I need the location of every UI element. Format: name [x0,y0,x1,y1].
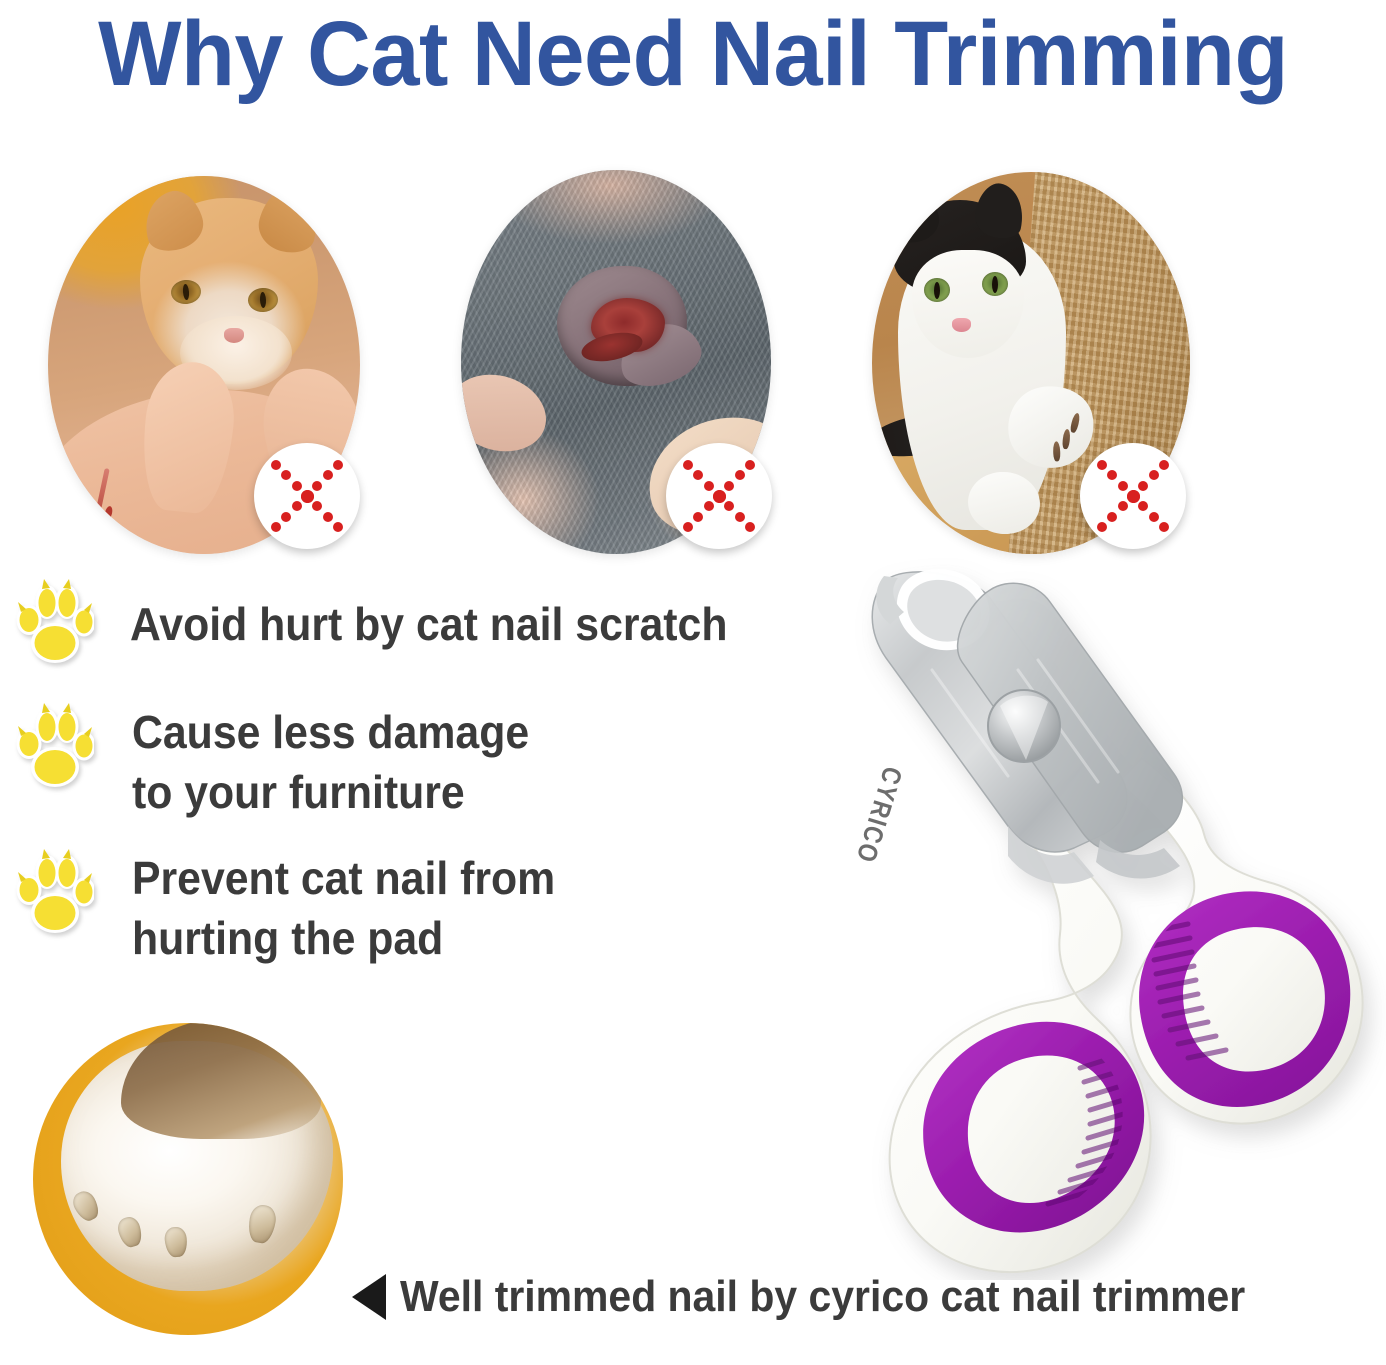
left-triangle-icon [352,1274,386,1320]
x-mark-icon [666,443,772,549]
benefit-item-2: Prevent cat nail from hurting the pad [16,846,587,968]
clipper-body [872,569,1362,1272]
cat-nose [224,328,244,343]
cat-nail-trimmer-product [812,520,1386,1280]
x-mark-icon [1080,443,1186,549]
benefit-label: Prevent cat nail from hurting the pad [132,846,555,968]
cat-nose [952,318,971,332]
x-mark-icon [254,443,360,549]
cat-eye-left [924,278,950,302]
benefit-label: Avoid hurt by cat nail scratch [130,576,727,654]
cat-eye-right [982,272,1008,296]
paw-print-icon [16,700,94,788]
paw-print-icon [16,846,94,934]
trimmed-paw-photo [33,1023,343,1335]
benefit-item-0: Avoid hurt by cat nail scratch [16,576,772,664]
benefit-item-1: Cause less damage to your furniture [16,700,559,822]
page-title: Why Cat Need Nail Trimming [28,2,1359,106]
paw-print-icon [16,576,94,664]
benefit-label: Cause less damage to your furniture [132,700,529,822]
